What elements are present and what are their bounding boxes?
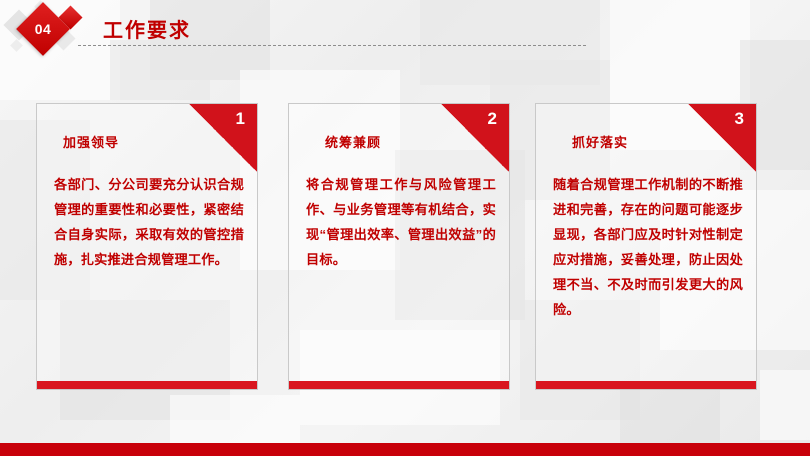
card-title: 统筹兼顾 [325, 132, 381, 151]
card-bottom-accent-bar [536, 381, 756, 389]
card-body-text: 将合规管理工作与风险管理工作、与业务管理等有机结合，实现“管理出效率、管理出效益… [306, 172, 496, 272]
corner-flag-triangle [441, 104, 509, 172]
card-title: 抓好落实 [572, 132, 628, 151]
content-card[interactable]: 3 抓好落实 随着合规管理工作机制的不断推进和完善，存在的问题可能逐步显现，各部… [535, 103, 757, 390]
bg-rect [620, 390, 720, 450]
card-number-badge: 3 [735, 110, 744, 127]
page-title: 工作要求 [103, 14, 191, 43]
footer-accent-bar [0, 443, 810, 456]
card-number-badge: 1 [236, 110, 245, 127]
corner-flag-triangle [189, 104, 257, 172]
content-card[interactable]: 1 加强领导 各部门、分公司要充分认识合规管理的重要性和必要性，紧密结合自身实际… [36, 103, 258, 390]
bg-rect [760, 370, 810, 440]
content-card[interactable]: 2 统筹兼顾 将合规管理工作与风险管理工作、与业务管理等有机结合，实现“管理出效… [288, 103, 510, 390]
section-number: 04 [24, 10, 62, 48]
card-bottom-accent-bar [37, 381, 257, 389]
title-divider [78, 45, 586, 46]
card-bottom-accent-bar [289, 381, 509, 389]
slide-canvas: 04 工作要求 1 加强领导 各部门、分公司要充分认识合规管理的重要性和必要性，… [0, 0, 810, 456]
slide-header: 04 工作要求 [0, 0, 810, 66]
decorative-diamond-icon [10, 39, 23, 52]
card-number-badge: 2 [488, 110, 497, 127]
card-body-text: 各部门、分公司要充分认识合规管理的重要性和必要性，紧密结合自身实际，采取有效的管… [54, 172, 244, 272]
corner-flag-triangle [688, 104, 756, 172]
card-title: 加强领导 [63, 132, 119, 151]
card-body-text: 随着合规管理工作机制的不断推进和完善，存在的问题可能逐步显现，各部门应及时针对性… [553, 172, 743, 322]
